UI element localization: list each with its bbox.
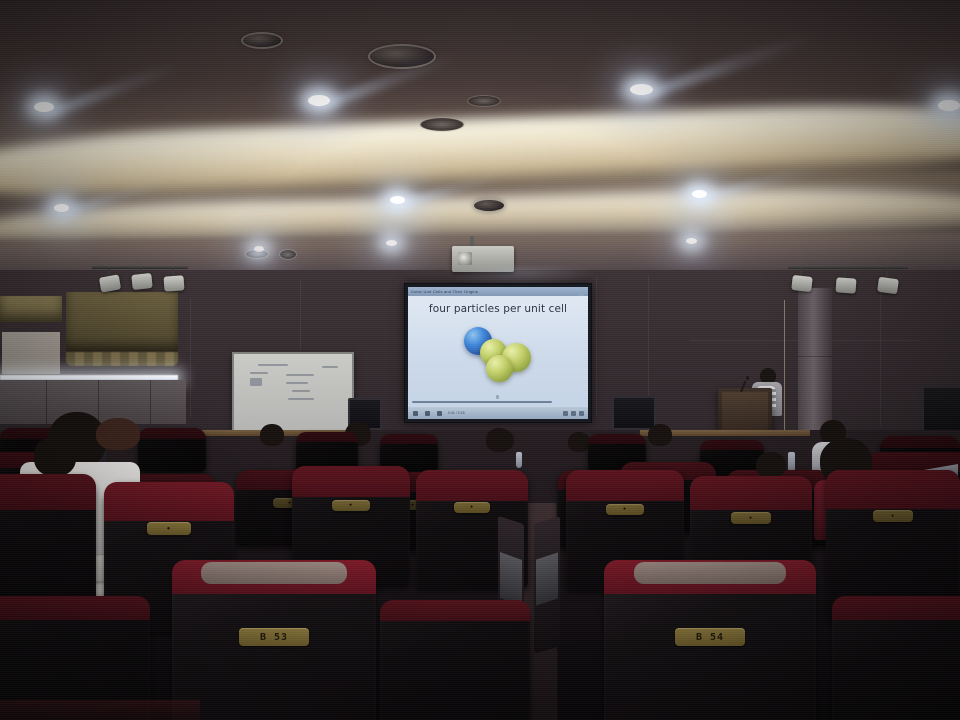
ceiling-vent-icon — [468, 96, 500, 106]
seat-headrest — [296, 432, 358, 442]
seat-number-plate-b54: B 54 — [675, 628, 745, 646]
media-player-controls: 0:41 / 2:18 — [408, 407, 588, 419]
seat[interactable] — [0, 474, 96, 614]
seat-headrest — [380, 600, 530, 621]
seat-headrest — [826, 470, 960, 509]
curtain-scallop — [66, 352, 178, 366]
microphone-head-icon — [746, 376, 749, 380]
slide-cursor-icon — [496, 395, 499, 399]
wall-seam — [300, 280, 301, 350]
track-spotlight — [791, 275, 812, 292]
wall-seam — [46, 380, 47, 424]
seat-headrest-stripe — [634, 562, 787, 584]
media-seek-bar[interactable] — [412, 401, 552, 403]
track-spotlight — [131, 273, 152, 290]
water-bottle — [788, 452, 795, 472]
seat-headrest — [104, 482, 234, 521]
person-head — [648, 424, 672, 446]
window-curtain — [66, 292, 178, 352]
whiteboard-writing — [250, 372, 268, 374]
projection-screen: Cubic Unit Cells and Their Origins four … — [404, 283, 592, 423]
ceiling-downlight — [254, 246, 264, 252]
ceiling-sensor-icon — [280, 250, 296, 259]
seat-headrest — [832, 596, 960, 620]
downlight-ring-icon — [474, 200, 504, 211]
mute-button[interactable] — [437, 411, 442, 416]
folding-tablet-arm — [536, 552, 558, 605]
window-valance — [0, 296, 62, 322]
ceiling-downlight — [34, 102, 54, 112]
spotlight-arm — [886, 268, 888, 277]
wall-seam — [190, 298, 191, 418]
equipment-box — [612, 396, 656, 430]
projected-slide: Cubic Unit Cells and Their Origins four … — [408, 287, 588, 419]
whiteboard-writing — [288, 398, 314, 400]
seat-b54[interactable]: B 54 — [604, 560, 816, 720]
downlight-ring-icon — [243, 34, 281, 47]
media-time-label: 0:41 / 2:18 — [448, 411, 465, 415]
track-spotlight — [836, 277, 857, 293]
seat-headrest — [138, 428, 206, 439]
seat-number-label: B 54 — [696, 632, 724, 643]
ceiling-downlight — [308, 95, 330, 106]
person-head — [260, 424, 284, 446]
ceiling-downlight — [386, 240, 397, 246]
whiteboard-writing — [292, 390, 310, 392]
seat-headrest-stripe — [201, 562, 348, 584]
person-head — [486, 428, 512, 452]
restore-button[interactable] — [571, 411, 576, 416]
stop-button[interactable] — [425, 411, 430, 416]
seat-headrest — [588, 434, 646, 444]
wall-display-panel — [922, 386, 960, 436]
seat-number-plate: • — [731, 512, 771, 524]
whiteboard — [232, 352, 354, 434]
whiteboard-writing — [286, 382, 308, 384]
seat[interactable] — [832, 596, 960, 720]
water-bottle — [516, 452, 522, 468]
carpet — [0, 700, 200, 720]
wall-seam — [150, 380, 151, 424]
spotlight-arm — [844, 268, 846, 277]
seat-headrest — [566, 470, 684, 501]
smoke-detector-icon — [420, 118, 464, 131]
ceiling-downlight — [938, 100, 960, 111]
seat[interactable] — [138, 428, 206, 472]
seat-headrest — [292, 466, 410, 497]
seat-b53[interactable]: B 53 — [172, 560, 376, 720]
wall-seam — [596, 276, 597, 416]
olive-particle-sphere — [486, 355, 513, 382]
media-player-title: Cubic Unit Cells and Their Origins — [408, 287, 588, 296]
pause-button[interactable] — [413, 411, 418, 416]
track-spotlight — [164, 275, 185, 291]
seat-number-label: B 53 — [260, 632, 288, 643]
seat-headrest — [0, 596, 150, 620]
folding-tablet-arm — [500, 552, 522, 606]
column-seam — [798, 356, 832, 357]
lighting-track — [788, 266, 908, 269]
close-button[interactable] — [579, 411, 584, 416]
seat-number-plate: • — [332, 500, 370, 511]
wall-column — [798, 288, 832, 430]
ceiling-downlight — [686, 238, 697, 244]
seat[interactable] — [380, 600, 530, 720]
track-spotlight — [877, 277, 899, 295]
seat-headrest — [0, 474, 96, 510]
person-head — [756, 452, 786, 478]
seat-number-plate-b53: B 53 — [239, 628, 309, 646]
seat-headrest — [416, 470, 528, 501]
person-head — [568, 432, 590, 452]
slide-heading: four particles per unit cell — [408, 303, 588, 315]
whiteboard-writing — [322, 366, 338, 368]
lecture-hall-photo: Cubic Unit Cells and Their Origins four … — [0, 0, 960, 720]
whiteboard-writing — [258, 364, 288, 366]
seat-number-plate: • — [147, 522, 191, 535]
ceiling-downlight — [692, 190, 707, 198]
seat-number-plate: • — [454, 502, 490, 513]
ceiling-downlight — [630, 84, 653, 95]
seat-headrest — [690, 476, 812, 510]
ceiling-downlight — [54, 204, 69, 212]
ceiling-downlight — [390, 196, 405, 204]
whiteboard-writing — [250, 378, 262, 386]
media-player-titlebar: Cubic Unit Cells and Their Origins — [408, 287, 588, 296]
seat-number-plate: • — [606, 504, 644, 515]
wall-seam — [880, 286, 881, 426]
window-pane — [2, 332, 60, 374]
wall-seam — [98, 380, 99, 424]
person-head — [34, 436, 76, 476]
person-head — [96, 418, 140, 450]
projector-lens-icon — [458, 252, 472, 265]
seat-headrest — [880, 436, 960, 448]
seat-headrest — [380, 434, 438, 444]
hanging-cable — [784, 300, 785, 430]
whiteboard-writing — [286, 374, 314, 376]
seat-number-plate: • — [873, 510, 913, 522]
minimize-button[interactable] — [563, 411, 568, 416]
seat-headrest — [700, 440, 764, 450]
